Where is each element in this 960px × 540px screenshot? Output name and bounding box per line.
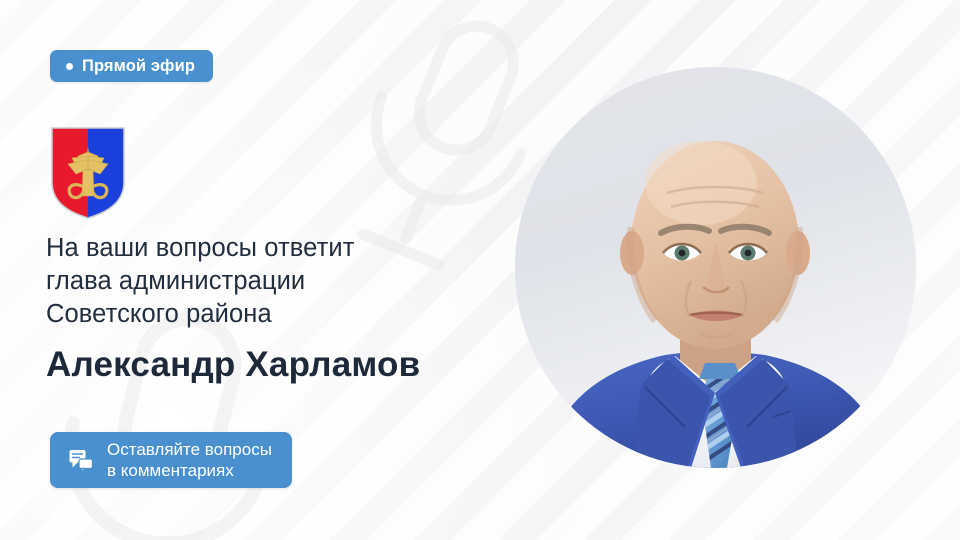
- live-dot-icon: [66, 63, 73, 70]
- headline-line-3: Советского района: [46, 298, 516, 331]
- headline-line-1: На ваши вопросы ответит: [46, 232, 516, 265]
- comment-bubbles-icon: [68, 447, 94, 473]
- cta-line-1: Оставляйте вопросы: [107, 439, 272, 460]
- leave-questions-label: Оставляйте вопросы в комментариях: [107, 439, 272, 482]
- coat-of-arms-emblem: [50, 126, 126, 220]
- portrait-photo: [515, 67, 916, 468]
- leave-questions-button[interactable]: Оставляйте вопросы в комментариях: [50, 432, 292, 488]
- person-name: Александр Харламов: [46, 345, 420, 385]
- page-title: На ваши вопросы ответит глава администра…: [46, 232, 516, 331]
- headline-line-2: глава администрации: [46, 265, 516, 298]
- live-badge-label: Прямой эфир: [82, 58, 195, 75]
- broadcast-announcement-poster: Прямой эфир: [0, 0, 960, 540]
- live-badge[interactable]: Прямой эфир: [50, 50, 213, 82]
- cta-line-2: в комментариях: [107, 460, 272, 481]
